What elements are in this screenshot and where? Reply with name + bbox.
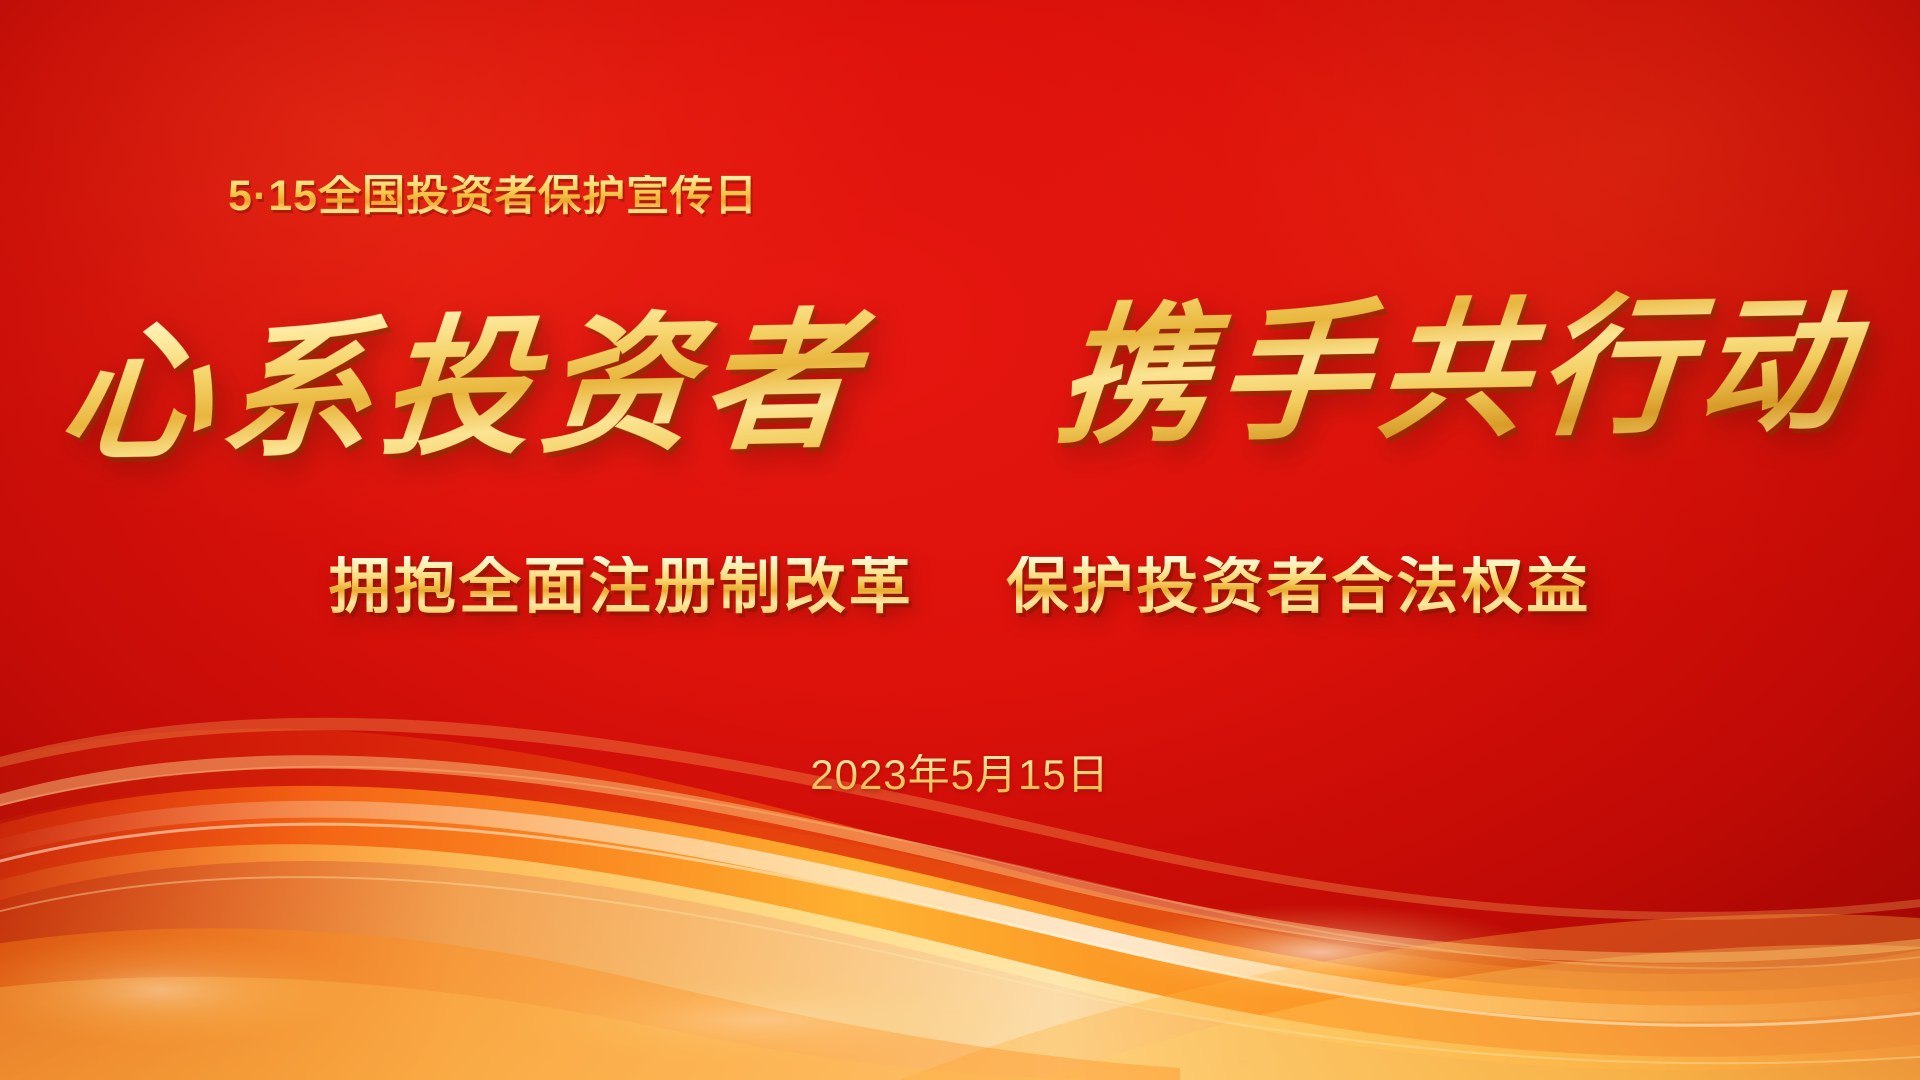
poster-subtitle: 拥抱全面注册制改革 保护投资者合法权益 [0,556,1920,618]
headline-phrase-left: 心系投资者 [54,293,871,483]
headline-phrase-right: 携手共行动 [1050,275,1867,465]
poster-canvas: 5·15全国投资者保护宣传日 心系投资者 携手共行动 拥抱全面注册制改革 保护投… [0,0,1920,1080]
event-date-label: 2023年5月15日 [0,754,1920,796]
poster-headline: 心系投资者 携手共行动 [0,283,1920,475]
subtitle-phrase-right: 保护投资者合法权益 [1006,552,1591,621]
poster-content: 5·15全国投资者保护宣传日 心系投资者 携手共行动 拥抱全面注册制改革 保护投… [0,0,1920,1080]
event-eyebrow-label: 5·15全国投资者保护宣传日 [228,175,758,218]
subtitle-phrase-left: 拥抱全面注册制改革 [329,552,914,621]
headline-spacer [920,430,990,431]
